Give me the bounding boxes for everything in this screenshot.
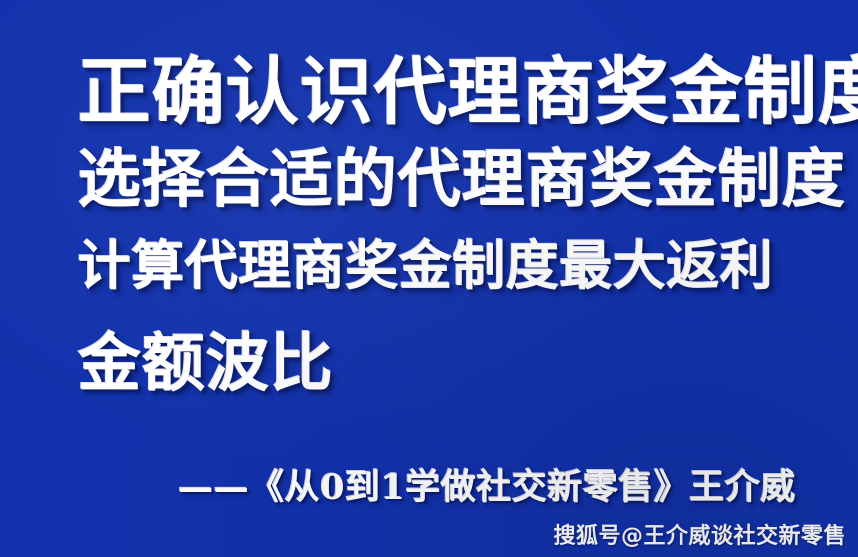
- heading-line-3: 计算代理商奖金制度最大返利: [78, 240, 774, 293]
- heading-line-4: 金额波比: [78, 332, 334, 395]
- sohu-watermark: 搜狐号@王介威谈社交新零售: [0, 526, 858, 548]
- heading-line-1: 正确认识代理商奖金制度: [78, 56, 858, 129]
- slide-canvas: 正确认识代理商奖金制度 选择合适的代理商奖金制度 计算代理商奖金制度最大返利 金…: [0, 0, 858, 557]
- heading-line-2: 选择合适的代理商奖金制度: [78, 148, 846, 211]
- source-attribution: ——《从0到1学做社交新零售》王介威: [0, 470, 858, 505]
